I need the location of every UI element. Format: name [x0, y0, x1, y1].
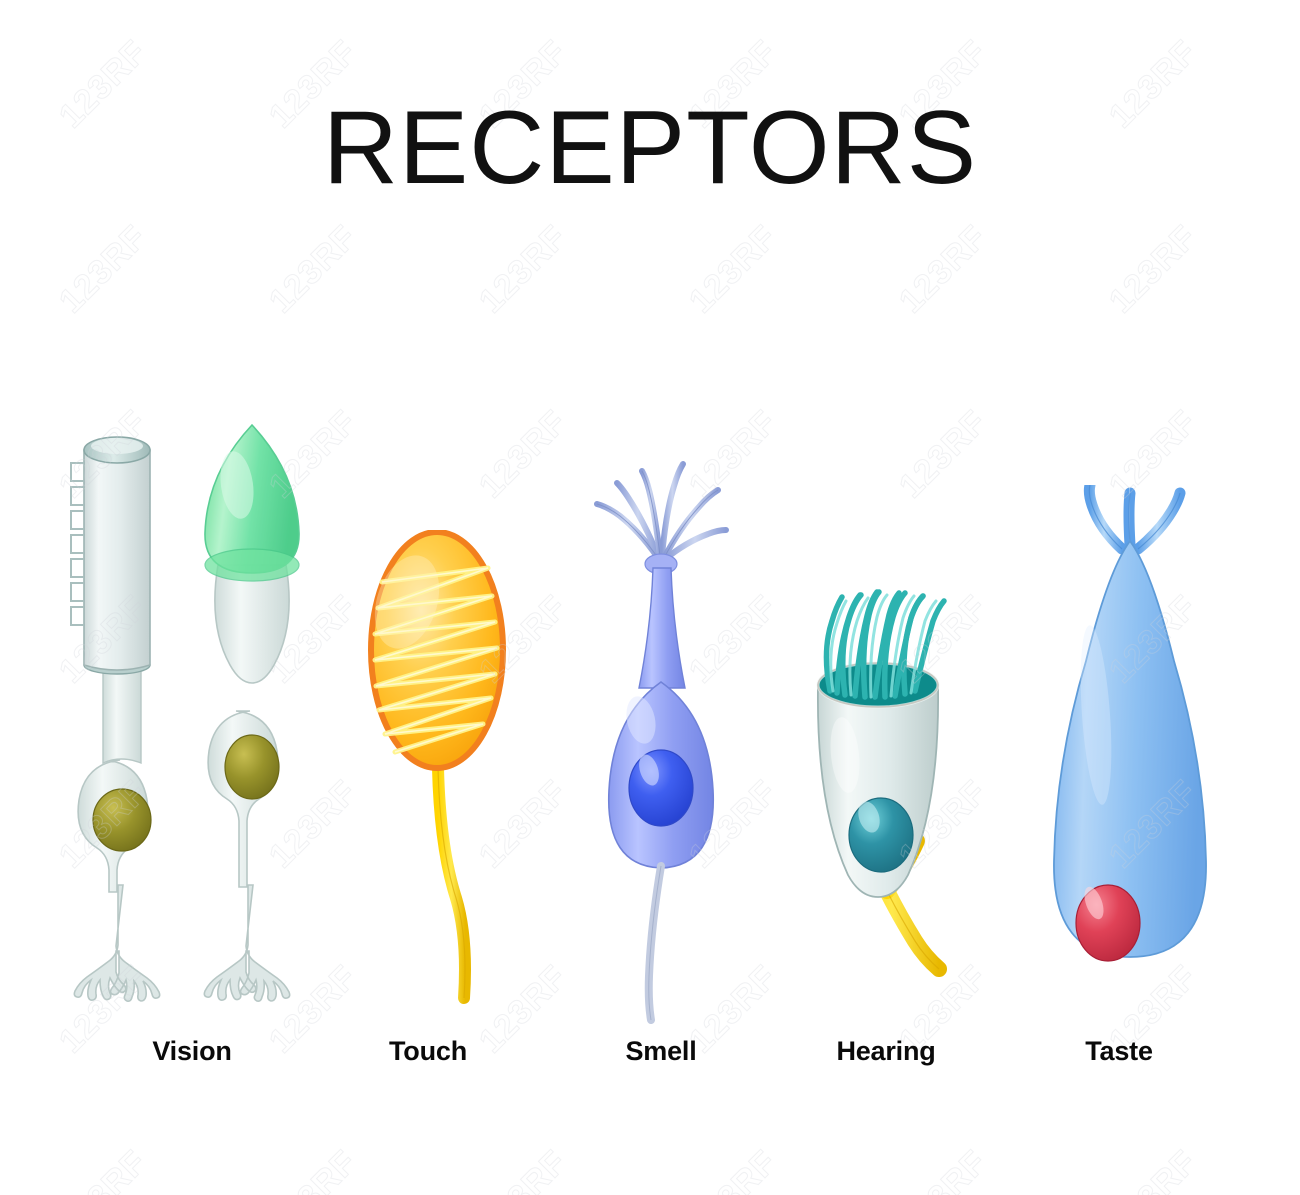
smell-nucleus: [629, 750, 693, 826]
receptor-figure-hearing: [785, 545, 1005, 1030]
label-touch: Touch: [328, 1036, 528, 1067]
cone-nucleus: [225, 735, 279, 799]
rod-synaptic-terminal: [74, 885, 159, 1001]
receptor-figure-touch: [345, 530, 545, 1030]
smell-olfactory-cilia: [597, 464, 726, 560]
rod-nucleus: [93, 789, 151, 851]
label-smell: Smell: [561, 1036, 761, 1067]
cone-photoreceptor: [204, 425, 299, 1001]
hearing-nucleus: [849, 798, 913, 872]
smell-axon: [649, 866, 661, 1020]
cone-inner-segment: [215, 565, 289, 683]
smell-dendrite: [639, 568, 685, 688]
page-title: RECEPTORS: [0, 96, 1300, 200]
rod-outer-segment: [84, 450, 150, 670]
cone-synaptic-terminal: [204, 885, 289, 1001]
illustration-canvas: 123RF123RF123RF123RF123RF123RF123RF123RF…: [0, 0, 1300, 1195]
rod-cap-highlight: [91, 438, 143, 454]
rod-disc-notches: [71, 463, 84, 625]
taste-microvilli: [1089, 485, 1180, 549]
label-hearing: Hearing: [786, 1036, 986, 1067]
receptor-figure-vision: [55, 415, 345, 1030]
label-vision: Vision: [92, 1036, 292, 1067]
receptor-figure-taste: [1030, 485, 1230, 1030]
rod-photoreceptor: [71, 437, 160, 1001]
receptor-figure-smell: [565, 450, 755, 1030]
label-taste: Taste: [1019, 1036, 1219, 1067]
rod-inner-segment: [103, 660, 141, 763]
cone-outer-segment-base: [205, 549, 299, 581]
